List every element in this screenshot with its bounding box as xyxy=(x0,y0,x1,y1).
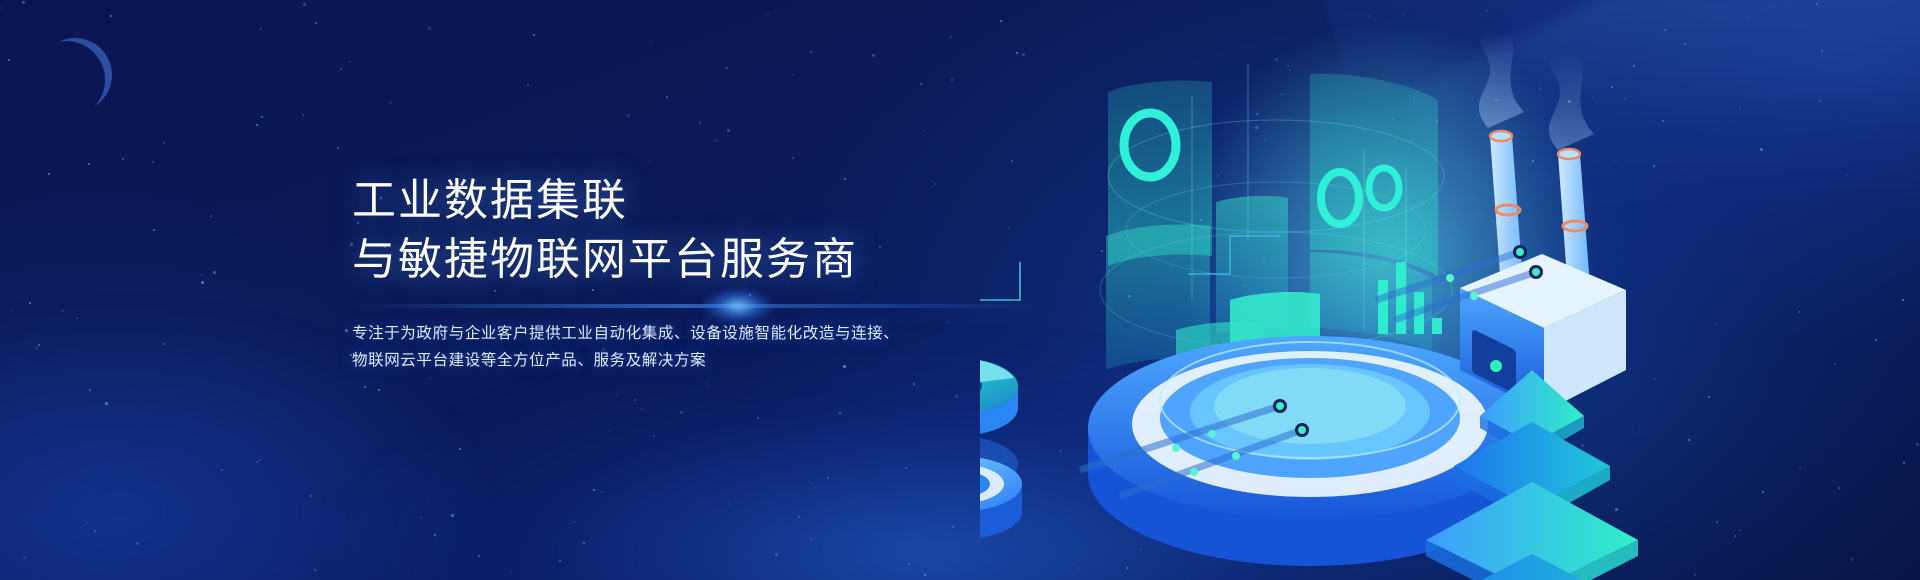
hero-illustration xyxy=(980,0,1920,580)
connector-line-icon xyxy=(980,230,1020,340)
crescent-moon-icon xyxy=(38,38,112,112)
hero-subtitle: 专注于为政府与企业客户提供工业自动化集成、设备设施智能化改造与连接、 物联网云平… xyxy=(352,320,1052,375)
headline-line-1: 工业数据集联 xyxy=(352,172,1052,231)
page-title: 工业数据集联 与敏捷物联网平台服务商 xyxy=(352,172,1052,290)
subtitle-line-2: 物联网云平台建设等全方位产品、服务及解决方案 xyxy=(352,347,1052,375)
subtitle-line-1: 专注于为政府与企业客户提供工业自动化集成、设备设施智能化改造与连接、 xyxy=(352,320,1052,348)
hero-banner: 工业数据集联 与敏捷物联网平台服务商 专注于为政府与企业客户提供工业自动化集成、… xyxy=(0,0,1920,580)
hero-copy: 工业数据集联 与敏捷物联网平台服务商 专注于为政府与企业客户提供工业自动化集成、… xyxy=(352,172,1052,375)
headline-line-2: 与敏捷物联网平台服务商 xyxy=(352,231,1052,290)
title-divider-glow xyxy=(352,304,1042,308)
